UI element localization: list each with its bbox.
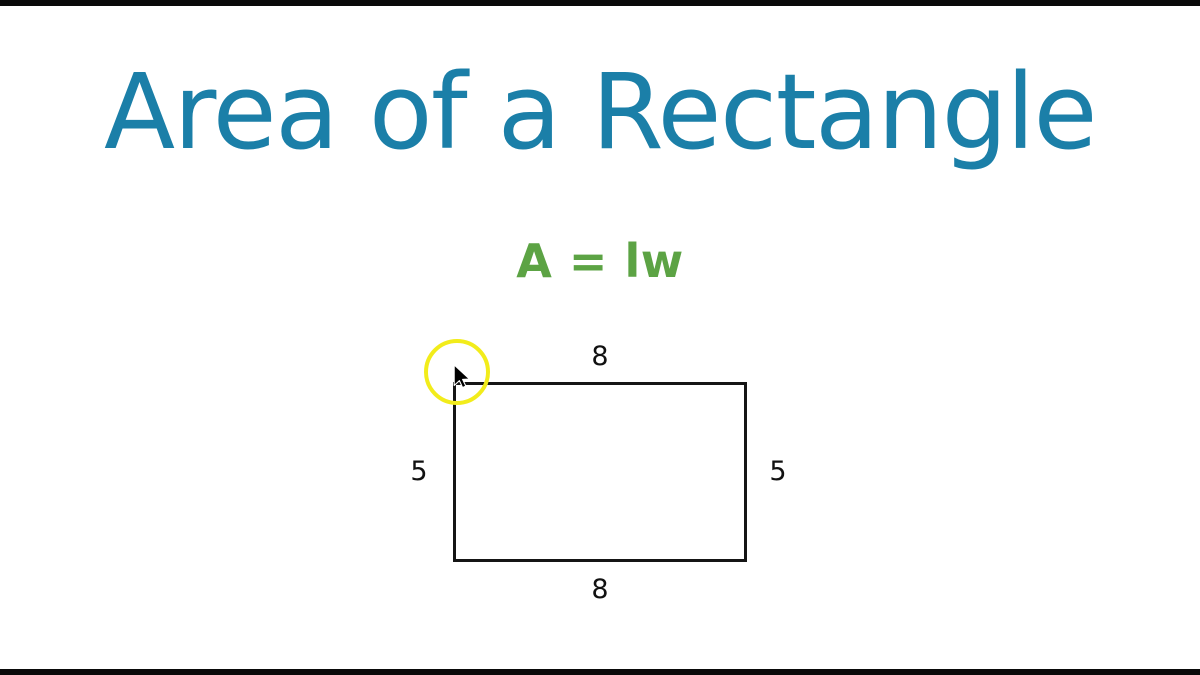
letterbox-bar-bottom xyxy=(0,669,1200,675)
dimension-label-top: 8 xyxy=(453,343,747,370)
rectangle-diagram: 8 8 5 5 xyxy=(0,6,1200,669)
dimension-label-bottom: 8 xyxy=(453,576,747,603)
click-highlight-circle-icon xyxy=(424,339,490,405)
rectangle-shape xyxy=(453,382,747,562)
letterbox-bar-top xyxy=(0,0,1200,6)
dimension-label-left: 5 xyxy=(396,458,442,485)
slide-canvas: Area of a Rectangle A = lw 8 8 5 5 xyxy=(0,6,1200,669)
video-frame: Area of a Rectangle A = lw 8 8 5 5 xyxy=(0,0,1200,675)
dimension-label-right: 5 xyxy=(755,458,801,485)
